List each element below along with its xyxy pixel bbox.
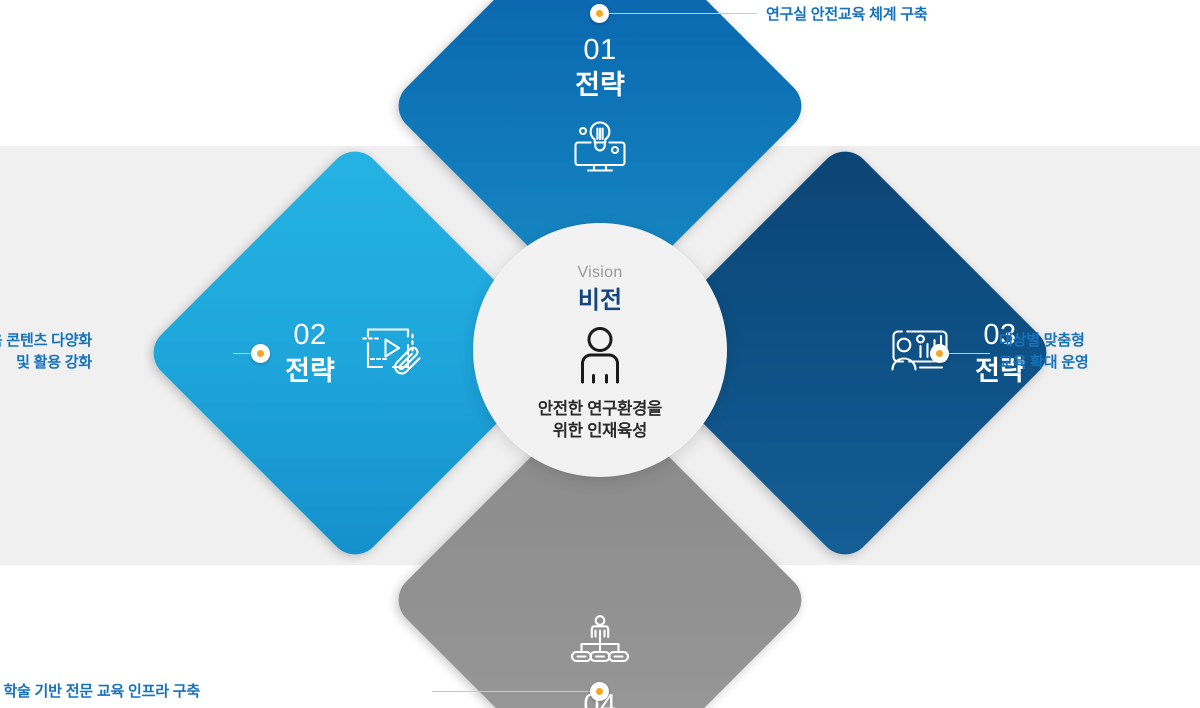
strategy-03-outer-label: 대상별 맞춤형 교육 확대 운영: [999, 330, 1089, 374]
vision-description: 안전한 연구환경을 위한 인재육성: [538, 398, 662, 443]
vision-description-line1: 안전한 연구환경을: [538, 400, 662, 418]
strategy-04-outer-label: 학술 기반 전문 교육 인프라 구축: [3, 681, 200, 703]
strategy-02-label-line1: 교육 콘텐츠 다양화: [0, 332, 92, 349]
strategy-02-outer-label: 교육 콘텐츠 다양화 및 활용 강화: [0, 330, 92, 374]
video-attachment-icon: [359, 321, 425, 386]
person-icon: [572, 325, 628, 390]
strategy-02-word: 전략: [285, 354, 335, 389]
org-chart-icon: [569, 614, 631, 669]
strategy-01-number: 01: [583, 32, 616, 68]
vision-strategy-diagram: 01 전략 02 전략: [0, 0, 1200, 708]
connector-dot-02[interactable]: [251, 344, 270, 363]
leader-line-01: [609, 13, 757, 14]
strategy-02-label-line2: 및 활용 강화: [0, 352, 92, 374]
leader-line-04: [432, 691, 590, 692]
strategy-03-label-line2: 교육 확대 운영: [999, 352, 1089, 374]
strategy-01-label-line1: 연구실 안전교육 체계 구축: [766, 6, 928, 23]
vision-center-circle: Vision 비전 안전한 연구환경을 위한 인재육성: [473, 223, 727, 477]
monitor-lightbulb-icon: [569, 119, 631, 180]
strategy-04-label-line1: 학술 기반 전문 교육 인프라 구축: [3, 683, 200, 700]
connector-dot-03[interactable]: [930, 344, 949, 363]
vision-label-en: Vision: [577, 265, 622, 281]
vision-label-ko: 비전: [578, 289, 622, 313]
vision-description-line2: 위한 인재육성: [553, 422, 647, 440]
connector-dot-04[interactable]: [590, 682, 609, 701]
leader-line-03: [948, 353, 990, 354]
connector-dot-01[interactable]: [590, 4, 609, 23]
strategy-01-word: 전략: [575, 68, 625, 103]
strategy-03-label-line1: 대상별 맞춤형: [999, 332, 1085, 349]
strategy-02-number: 02: [293, 317, 326, 353]
strategy-01-outer-label: 연구실 안전교육 체계 구축: [766, 4, 928, 26]
